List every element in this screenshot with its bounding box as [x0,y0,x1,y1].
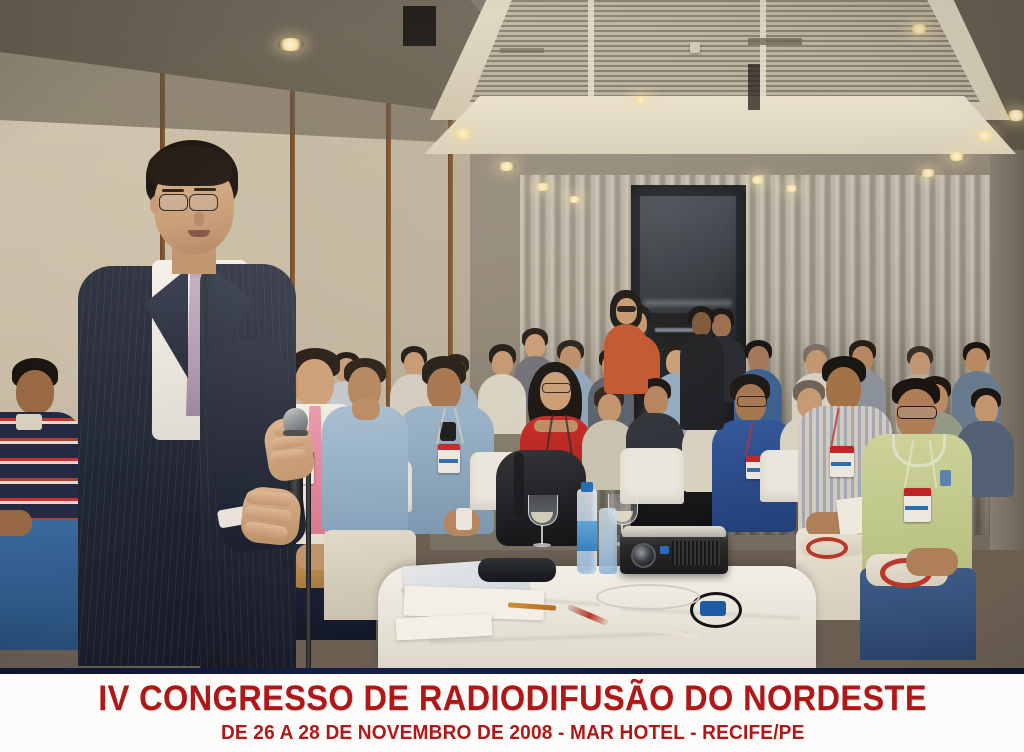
downlight [632,96,650,104]
projector-vent [672,541,720,565]
downlight [567,196,582,203]
tote-bag-logo [806,537,848,559]
projector-lens [631,543,656,568]
hair-top [148,146,232,186]
downlight [277,38,304,51]
cable-plug [700,601,726,616]
eyeglasses-icon [897,406,937,419]
downlight [452,128,474,139]
eyeglasses-icon [542,383,571,393]
downlight [975,131,995,141]
power-cable [596,584,700,610]
polo-collar [16,414,42,430]
ceiling-speaker-box [748,64,760,110]
eyebrow [162,189,184,192]
banner-text-block: IV CONGRESSO DE RADIODIFUSÃO DO NORDESTE… [110,674,916,752]
eyeglasses-icon [737,396,767,407]
smoke-detector-icon [690,42,700,53]
mouth [188,230,210,237]
eyeglasses-icon [159,194,188,211]
hands [0,510,32,536]
downlight [909,24,929,34]
eyeglasses-icon [189,194,218,211]
downlight [534,183,551,191]
pocket-item [940,470,951,486]
water-bottle [599,508,617,574]
hands [906,548,958,576]
congress-subtitle: DE 26 A 28 DE NOVEMBRO DE 2008 - MAR HOT… [221,721,805,745]
downlight [497,162,516,171]
name-badge [904,488,931,522]
microphone-ring [283,430,308,436]
downlight [919,169,937,177]
name-badge [438,444,460,473]
held-paper [456,508,472,530]
conference-photograph: ESTRATÉGIA PROFISSIONALIZAÇÃO MÍDIA IV C… [0,0,1024,752]
presenter-speaker [60,140,330,668]
name-badge [830,446,854,477]
tray-ceiling-beams [470,0,980,108]
wine-glass [528,495,556,551]
projector-top-panel [622,526,726,537]
downlight [784,185,799,192]
microphone-stand [306,468,311,668]
conference-hall-scene [0,0,1024,668]
projector-indicator [660,546,669,554]
congress-title: IV CONGRESSO DE RADIODIFUSÃO DO NORDESTE [99,681,928,716]
ceiling-speaker-box [403,6,436,46]
sunglasses [617,306,636,312]
downlight [947,152,966,161]
hand-at-chin [352,398,380,420]
backpack-strap [514,452,524,516]
equipment-pouch [478,558,556,582]
neckline [534,420,578,432]
nose [194,212,204,226]
bottle-cap [581,482,593,492]
downlight [749,176,766,184]
bottle-label [577,521,597,551]
sunglasses-clipped-on-shirt [440,422,456,441]
ceiling-vent [500,48,544,53]
ceiling-vent [748,38,802,45]
caption-banner: ESTRATÉGIA PROFISSIONALIZAÇÃO MÍDIA IV C… [0,668,1024,752]
eyebrow [194,188,216,191]
downlight [1005,110,1024,121]
tray-ceiling-lip [424,96,1016,154]
